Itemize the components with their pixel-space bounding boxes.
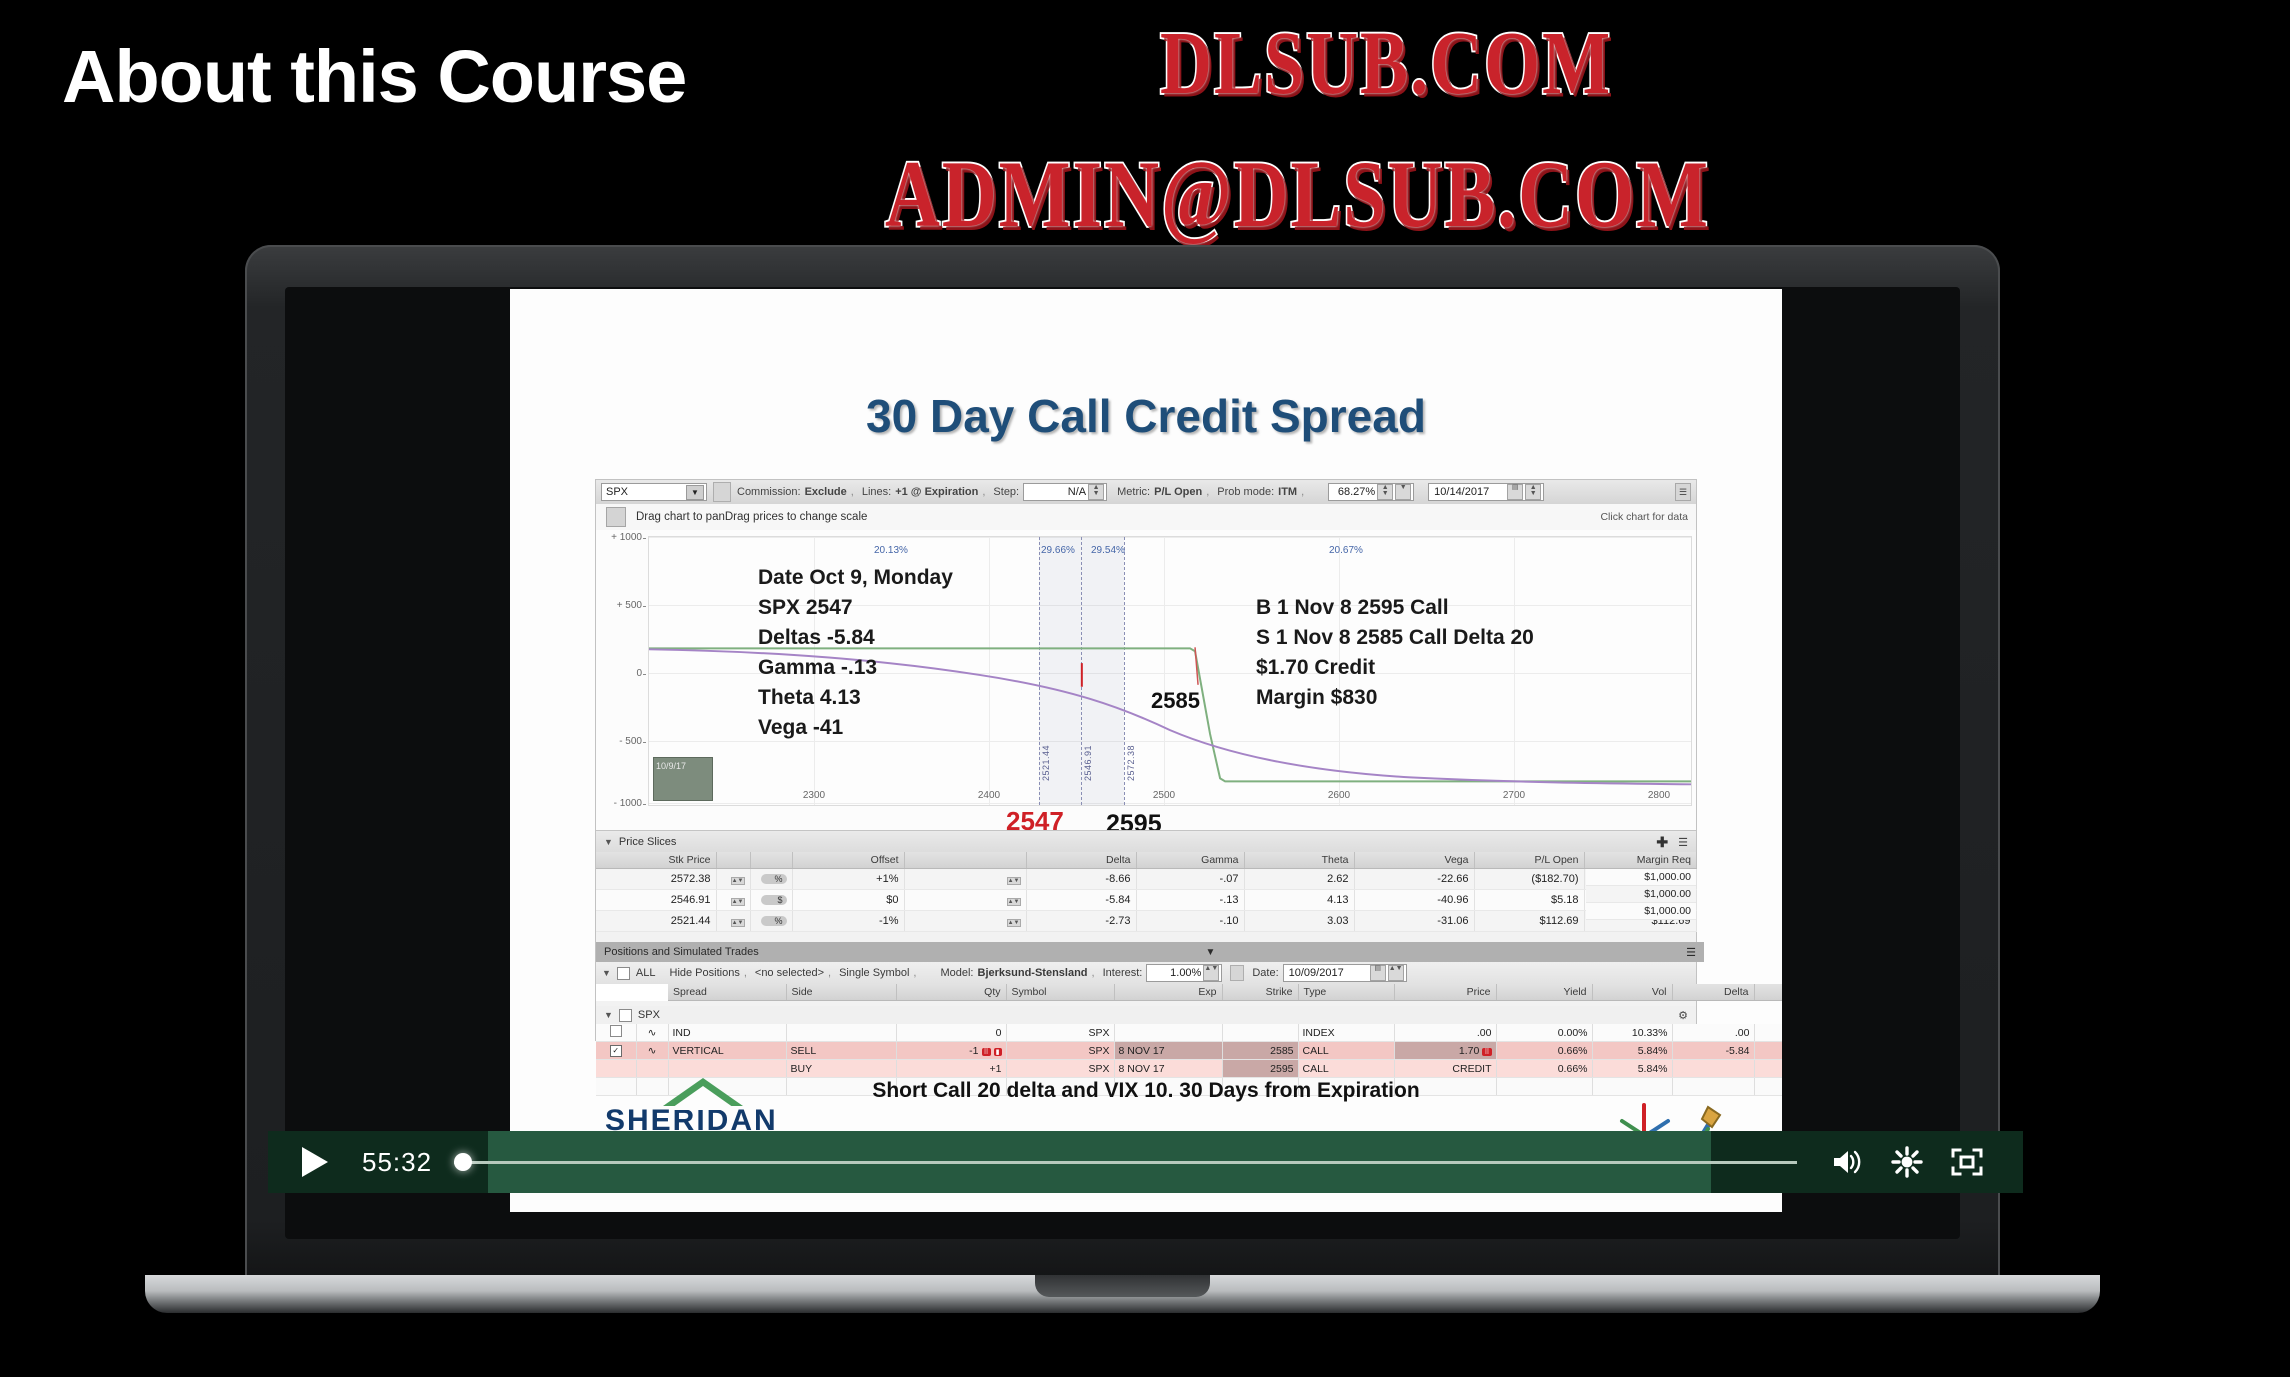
col-blank-3 [904, 852, 1026, 869]
col-spread: Spread [668, 984, 786, 1001]
cell-exp [1114, 1024, 1222, 1042]
chevron-down-icon[interactable]: ▼ [686, 485, 704, 500]
table-row[interactable]: 2546.91 ▲▼ $ $0 ▲▼ -5.84 -.13 4.13 -40.9… [596, 890, 1696, 911]
cell-price: CREDIT [1394, 1060, 1496, 1078]
cell-theta: 2.62 [1244, 869, 1354, 890]
chart-icon[interactable]: ∿ [636, 1042, 668, 1060]
cell-offset[interactable]: -1% [792, 911, 904, 932]
probability-percent-input[interactable]: 68.27% ▲▼ ▼ [1328, 483, 1414, 501]
table-row[interactable]: 2521.44 ▲▼ % -1% ▲▼ -2.73 -.10 3.03 -31.… [596, 911, 1696, 932]
cell-vol: 5.84% [1592, 1042, 1672, 1060]
cell-stk[interactable]: 2546.91 [596, 890, 716, 911]
unit-toggle[interactable]: $ [761, 895, 787, 905]
cell-spread [668, 1060, 786, 1078]
positions-columns: Spread Side Qty Symbol Exp Strike Type P… [596, 984, 1782, 1001]
y-tick: + 500 [596, 600, 642, 611]
sep-1: , [851, 486, 854, 498]
cell-pl-open: $5.18 [1474, 890, 1584, 911]
annotation-theta: Theta 4.13 [758, 686, 861, 710]
lines-value[interactable]: +1 @ Expiration [895, 486, 978, 498]
stepper-icon[interactable]: ▲▼ [1007, 877, 1021, 885]
cell-margin[interactable]: - ✖ [1754, 1042, 1782, 1060]
toolbar-menu-icon[interactable]: ☰ [1675, 483, 1691, 501]
filter-all[interactable]: ALL [636, 967, 656, 979]
calendar-icon[interactable]: ▤ [1507, 484, 1523, 500]
cell-pl-open: $112.69 [1474, 911, 1584, 932]
annotation-margin: Margin $830 [1256, 686, 1377, 710]
unit-toggle[interactable]: % [761, 916, 787, 926]
marker-label-2585: 2585 [1151, 688, 1200, 714]
unit-toggle[interactable]: % [761, 874, 787, 884]
cell-delta: -8.66 [1026, 869, 1136, 890]
metric-value[interactable]: P/L Open [1154, 486, 1202, 498]
prob-value[interactable]: ITM [1278, 486, 1297, 498]
cell-symbol: SPX [1006, 1060, 1114, 1078]
x-tick: 2700 [1503, 790, 1525, 801]
y-tick: 0 [596, 668, 642, 679]
stepper-icon[interactable]: ▲▼ [1203, 965, 1219, 981]
cell-strike[interactable]: 2585 [1222, 1042, 1298, 1060]
cell-margin: $1,000.00 [1586, 886, 1696, 903]
col-offset: Offset [792, 852, 904, 869]
col-vega: Vega [1354, 852, 1474, 869]
delete-badge-icon: ▮ [994, 1048, 1002, 1056]
cell-yield: 0.66% [1496, 1060, 1592, 1078]
x-tick: 2800 [1648, 790, 1670, 801]
annotation-vega: Vega -41 [758, 716, 843, 740]
stepper-icon[interactable]: ▲▼ [731, 919, 745, 927]
model-label: Model: [940, 967, 973, 979]
interest-input[interactable]: 1.00% ▲▼ [1146, 964, 1222, 982]
lock-icon[interactable] [1230, 965, 1244, 981]
cell-side[interactable]: BUY [786, 1060, 896, 1078]
cell-yield: 0.66% [1496, 1042, 1592, 1060]
chevron-down-icon[interactable]: ▼ [604, 837, 613, 847]
x-tick: 2600 [1328, 790, 1350, 801]
stepper-icon[interactable]: ▲▼ [1377, 484, 1393, 500]
positions-title: Positions and Simulated Trades [604, 946, 759, 958]
cell-yield: 0.00% [1496, 1024, 1592, 1042]
col-vol: Vol [1592, 984, 1672, 1001]
cell-spread: VERTICAL [668, 1042, 786, 1060]
roof-inner-icon [669, 1086, 737, 1110]
cell-symbol: SPX [1006, 1042, 1114, 1060]
cell-vega: -40.96 [1354, 890, 1474, 911]
table-header-row: Stk Price Offset Delta Gamma Theta Vega … [596, 852, 1696, 869]
cell-side [786, 1024, 896, 1042]
watermark-email: ADMIN@DLSUB.COM [885, 141, 1710, 250]
cell-margin: $1,000.00 [1586, 903, 1696, 920]
current-time: 55:32 [362, 1147, 432, 1178]
col-stk-price: Stk Price [596, 852, 716, 869]
col-price: Price [1394, 984, 1496, 1001]
stepper-icon[interactable]: ▲▼ [731, 877, 745, 885]
annotation-credit: $1.70 Credit [1256, 656, 1375, 680]
cell-vega: -31.06 [1354, 911, 1474, 932]
positions-section-header[interactable]: Positions and Simulated Trades ▼ ☰ [596, 942, 1704, 962]
table-row[interactable]: 2572.38 ▲▼ % +1% ▲▼ -8.66 -.07 2.62 -22.… [596, 869, 1696, 890]
col-strike: Strike [1222, 984, 1298, 1001]
cell-vega: -22.66 [1354, 869, 1474, 890]
stepper-icon[interactable]: ▲▼ [1007, 919, 1021, 927]
cell-side[interactable]: SELL [786, 1042, 896, 1060]
cell-pl-open: ($182.70) [1474, 869, 1584, 890]
annotation-spx: SPX 2547 [758, 596, 853, 620]
step-label: Step: [993, 486, 1019, 498]
interest-value: 1.00% [1170, 967, 1201, 979]
cell-vol: 10.33% [1592, 1024, 1672, 1042]
margin-req-column: Margin Req $1,000.00 $1,000.00 $1,000.00 [1586, 852, 1696, 920]
interest-label: Interest: [1103, 967, 1143, 979]
cell-delta: .00 [1672, 1024, 1754, 1042]
pan-hint-text: Drag chart to panDrag prices to change s… [636, 511, 867, 523]
stepper-icon[interactable]: ▲▼ [1007, 898, 1021, 906]
chart-icon[interactable]: ∿ [636, 1024, 668, 1042]
chart-settings-icon[interactable] [606, 507, 626, 527]
cell-qty[interactable]: +1 [896, 1060, 1006, 1078]
group-row-spx[interactable]: ▼ SPX ⚙ [596, 1006, 1696, 1024]
slices-menu-icon[interactable]: ☰ [1678, 836, 1688, 849]
cell-type[interactable]: CALL [1298, 1042, 1394, 1060]
volume-icon[interactable] [1817, 1147, 1877, 1177]
model-value[interactable]: Bjerksund-Stensland [978, 967, 1088, 979]
col-blank-1 [716, 852, 750, 869]
col-delta: Delta [1672, 984, 1754, 1001]
group-label: SPX [638, 1009, 660, 1021]
cell-theta: 3.03 [1244, 911, 1354, 932]
qty-badge-icon: ⠿ [982, 1048, 991, 1056]
probability-percent-value: 68.27% [1338, 486, 1375, 498]
col-margin-req: Margin Req [1754, 984, 1782, 1001]
video-player-viewport[interactable]: 30 Day Call Credit Spread SPX ▼ Commissi… [510, 289, 1782, 1212]
col-type: Type [1298, 984, 1394, 1001]
cell-delta: -5.84 [1672, 1042, 1754, 1060]
click-hint-text: Click chart for data [1600, 511, 1688, 523]
hide-positions-toggle[interactable]: Hide Positions [670, 967, 740, 979]
cell-strike[interactable]: 2595 [1222, 1060, 1298, 1078]
expiration-date-value: 10/14/2017 [1431, 486, 1489, 498]
cell-gamma: -.07 [1136, 869, 1244, 890]
commission-label: Commission: [737, 486, 801, 498]
col-side: Side [786, 984, 896, 1001]
gear-icon[interactable]: ⚙ [1678, 1009, 1688, 1022]
cell-offset[interactable]: $0 [792, 890, 904, 911]
cell-stk[interactable]: 2572.38 [596, 869, 716, 890]
lines-label: Lines: [862, 486, 891, 498]
col-theta: Theta [1244, 852, 1354, 869]
col-blank-2 [750, 852, 792, 869]
stepper-icon[interactable]: ▲▼ [731, 898, 745, 906]
cell-qty: 0 [896, 1024, 1006, 1042]
step-value: N/A [1068, 486, 1086, 498]
cell-symbol: SPX [1006, 1024, 1114, 1042]
symbol-lookup-icon[interactable] [713, 482, 731, 502]
watermark-site: DLSUB.COM [1160, 12, 1612, 116]
x-tick: 2500 [1153, 790, 1175, 801]
y-tick: - 1000 [596, 798, 642, 809]
cell-vol: 5.84% [1592, 1060, 1672, 1078]
col-exp: Exp [1114, 984, 1222, 1001]
analyze-tab-pane: SPX ▼ Commission: Exclude , Lines: +1 @ … [595, 479, 1697, 1041]
positions-date-input[interactable]: 10/09/2017 ▤ ▲▼ [1283, 964, 1407, 982]
cell-price[interactable]: 1.70⠿ [1394, 1042, 1496, 1060]
annotation-deltas: Deltas -5.84 [758, 626, 875, 650]
col-pl-open: P/L Open [1474, 852, 1584, 869]
row-checkbox[interactable] [610, 1025, 622, 1037]
commission-value[interactable]: Exclude [805, 486, 847, 498]
group-checkbox[interactable] [619, 1009, 632, 1022]
step-input[interactable]: N/A ▲▼ [1023, 483, 1107, 501]
chart-hint-row: Drag chart to panDrag prices to change s… [596, 504, 1696, 531]
chevron-down-icon[interactable]: ▼ [604, 1010, 613, 1020]
add-slice-icon[interactable]: ✚ [1656, 834, 1668, 851]
cell-spread: IND [668, 1024, 786, 1042]
no-selected-dropdown[interactable]: <no selected> [755, 967, 824, 979]
price-slices-table[interactable]: Stk Price Offset Delta Gamma Theta Vega … [596, 852, 1697, 932]
cell-offset[interactable]: +1% [792, 869, 904, 890]
calendar-icon[interactable]: ▤ [1370, 965, 1386, 981]
cell-gamma: -.13 [1136, 890, 1244, 911]
video-controls-bar: 55:32 [268, 1131, 2023, 1193]
stepper-icon[interactable]: ▲▼ [1525, 484, 1541, 500]
table-header-row: Spread Side Qty Symbol Exp Strike Type P… [596, 984, 1782, 1001]
gear-icon[interactable] [1877, 1146, 1937, 1178]
expiration-date-input[interactable]: 10/14/2017 ▤ ▲▼ [1428, 483, 1544, 501]
positions-menu-icon[interactable]: ☰ [1686, 946, 1696, 959]
chevron-down-icon[interactable]: ▼ [602, 968, 611, 978]
col-yield: Yield [1496, 984, 1592, 1001]
annotation-sell-leg: S 1 Nov 8 2585 Call Delta 20 [1256, 626, 1534, 650]
annotation-date: Date Oct 9, Monday [758, 566, 953, 590]
risk-graph[interactable]: + 1000 + 500 0 - 500 - 1000 2521 [596, 530, 1696, 830]
symbol-value: SPX [606, 486, 628, 498]
play-icon[interactable] [302, 1147, 328, 1177]
cell-delta: -5.84 [1026, 890, 1136, 911]
analyze-toolbar: SPX ▼ Commission: Exclude , Lines: +1 @ … [596, 480, 1696, 505]
sep-2: , [982, 486, 985, 498]
annotation-buy-leg: B 1 Nov 8 2595 Call [1256, 596, 1449, 620]
x-tick: 2400 [978, 790, 1000, 801]
table-row[interactable]: BUY +1 SPX 8 NOV 17 2595 CALL CREDIT 0.6… [596, 1060, 1782, 1078]
metric-label: Metric: [1117, 486, 1150, 498]
progress-bar[interactable] [454, 1131, 1797, 1193]
sep-4: , [1301, 486, 1304, 498]
presentation-slide: 30 Day Call Credit Spread SPX ▼ Commissi… [510, 289, 1782, 1212]
price-slices-title: Price Slices [619, 836, 676, 848]
progress-handle[interactable] [454, 1153, 472, 1171]
y-tick: - 500 [596, 736, 642, 747]
sep-3: , [1206, 486, 1209, 498]
cell-exp[interactable]: 8 NOV 17 [1114, 1042, 1222, 1060]
y-tick: + 1000 [596, 532, 642, 543]
date-label: Date: [1252, 967, 1278, 979]
cell-price: .00 [1394, 1024, 1496, 1042]
cell-margin: - [1754, 1060, 1782, 1078]
col-qty: Qty [896, 984, 1006, 1001]
cell-delta: -2.73 [1026, 911, 1136, 932]
col-delta: Delta [1026, 852, 1136, 869]
page-title: About this Course [62, 34, 686, 119]
positions-toolbar: ▼ ALL Hide Positions , <no selected> , S… [596, 962, 1696, 985]
col-gamma: Gamma [1136, 852, 1244, 869]
cell-exp[interactable]: 8 NOV 17 [1114, 1060, 1222, 1078]
col-margin-req: Margin Req [1586, 852, 1696, 869]
cell-delta [1672, 1060, 1754, 1078]
laptop-notch [1035, 1275, 1210, 1297]
price-badge-icon: ⠿ [1482, 1048, 1491, 1056]
col-symbol: Symbol [1006, 984, 1114, 1001]
positions-date-value: 10/09/2017 [1286, 967, 1344, 979]
cell-qty[interactable]: -1⠿▮ [896, 1042, 1006, 1060]
table-row[interactable]: ✓ ∿ VERTICAL SELL -1⠿▮ SPX 8 NOV 17 2585… [596, 1042, 1782, 1060]
cell-theta: 4.13 [1244, 890, 1354, 911]
fullscreen-icon[interactable] [1937, 1147, 1997, 1177]
cell-margin: $1,000.00 [1586, 869, 1696, 886]
slide-title: 30 Day Call Credit Spread [510, 389, 1782, 443]
stepper-icon[interactable]: ▲▼ [1388, 965, 1404, 981]
progress-track[interactable] [454, 1161, 1797, 1164]
cell-gamma: -.10 [1136, 911, 1244, 932]
prob-label: Prob mode: [1217, 486, 1274, 498]
cell-type[interactable]: CALL [1298, 1060, 1394, 1078]
cell-strike [1222, 1024, 1298, 1042]
chevron-down-icon[interactable]: ▼ [1395, 484, 1411, 500]
x-tick: 2300 [803, 790, 825, 801]
single-symbol-dropdown[interactable]: Single Symbol [839, 967, 909, 979]
collapse-icon[interactable]: ▼ [1205, 947, 1215, 958]
cell-type: INDEX [1298, 1024, 1394, 1042]
cell-stk[interactable]: 2521.44 [596, 911, 716, 932]
annotation-gamma: Gamma -.13 [758, 656, 877, 680]
cell-margin: - [1754, 1024, 1782, 1042]
price-slices-header[interactable]: ▼ Price Slices ✚ ☰ [596, 830, 1696, 854]
stepper-icon[interactable]: ▲▼ [1088, 484, 1104, 500]
symbol-input[interactable]: SPX ▼ [601, 483, 707, 501]
select-all-checkbox[interactable] [617, 967, 630, 980]
row-checkbox[interactable]: ✓ [610, 1045, 622, 1057]
table-row[interactable]: ∿ IND 0 SPX INDEX .00 0.00% 10.33% .00 - [596, 1024, 1782, 1042]
